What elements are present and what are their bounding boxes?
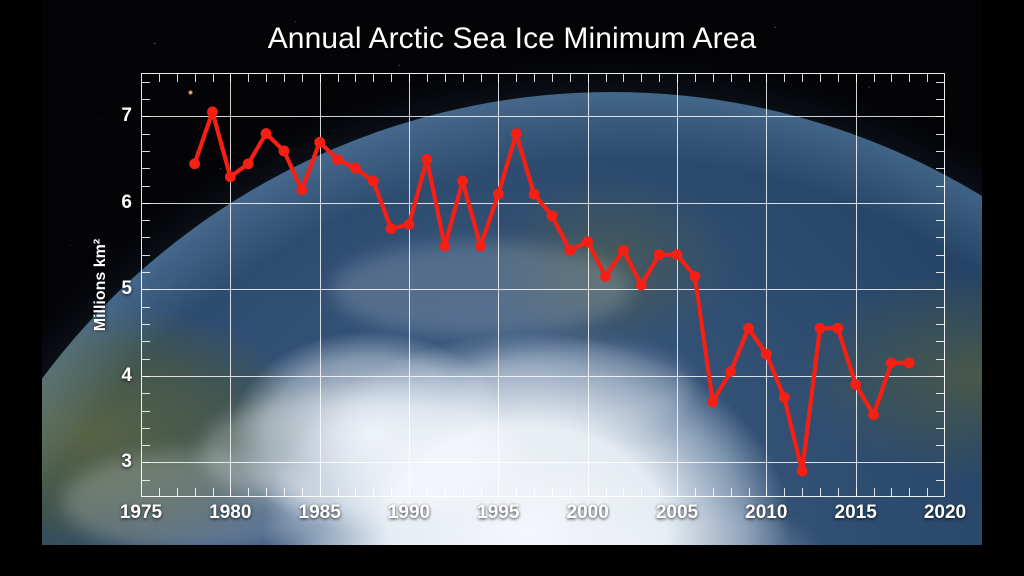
- sea-ice-area-series: [141, 73, 945, 497]
- data-point: [582, 236, 593, 247]
- data-point: [225, 171, 236, 182]
- data-point: [243, 158, 254, 169]
- data-point: [886, 357, 897, 368]
- data-point: [475, 241, 486, 252]
- data-point: [779, 392, 790, 403]
- data-point: [850, 379, 861, 390]
- x-axis-tick-label: 2015: [835, 502, 877, 524]
- x-axis-tick-label: 1995: [477, 502, 519, 524]
- page-title: Annual Arctic Sea Ice Minimum Area: [0, 22, 1024, 56]
- data-point: [797, 466, 808, 477]
- data-point: [368, 176, 379, 187]
- data-point: [439, 241, 450, 252]
- x-axis-tick-label: 1980: [209, 502, 251, 524]
- y-axis-tick-label: 3: [121, 451, 132, 473]
- data-point: [636, 280, 647, 291]
- data-point: [421, 154, 432, 165]
- data-point: [904, 357, 915, 368]
- data-point: [189, 158, 200, 169]
- data-point: [386, 223, 397, 234]
- data-point: [207, 107, 218, 118]
- data-point: [761, 349, 772, 360]
- x-axis-tick-label: 2010: [745, 502, 787, 524]
- data-point: [314, 137, 325, 148]
- y-axis-tick-label: 5: [121, 278, 132, 300]
- data-point: [332, 154, 343, 165]
- chart-screenshot: Annual Arctic Sea Ice Minimum Area 34567…: [0, 0, 1024, 576]
- data-point: [547, 210, 558, 221]
- data-point: [654, 249, 665, 260]
- x-axis-tick-label: 1985: [299, 502, 341, 524]
- data-point: [493, 189, 504, 200]
- x-axis-tick-label: 2000: [567, 502, 609, 524]
- x-axis-tick-label: 1990: [388, 502, 430, 524]
- data-point: [689, 271, 700, 282]
- y-axis-tick-label: 6: [121, 192, 132, 214]
- series-markers: [189, 107, 914, 477]
- data-point: [707, 396, 718, 407]
- y-axis-tick-label: 4: [121, 365, 132, 387]
- data-point: [725, 366, 736, 377]
- data-point: [672, 249, 683, 260]
- y-axis-tick-label: 7: [121, 105, 132, 127]
- y-axis-title: Millions km²: [92, 239, 110, 331]
- data-point: [457, 176, 468, 187]
- data-point: [743, 323, 754, 334]
- data-point: [261, 128, 272, 139]
- data-point: [279, 145, 290, 156]
- series-line: [195, 112, 910, 471]
- data-point: [832, 323, 843, 334]
- data-point: [868, 409, 879, 420]
- data-point: [815, 323, 826, 334]
- data-point: [600, 271, 611, 282]
- x-axis-tick-label: 2020: [924, 502, 966, 524]
- chart-plot-area: 3456719751980198519901995200020052010201…: [141, 73, 945, 497]
- data-point: [529, 189, 540, 200]
- data-point: [564, 245, 575, 256]
- data-point: [404, 219, 415, 230]
- data-point: [511, 128, 522, 139]
- x-axis-tick-label: 1975: [120, 502, 162, 524]
- data-point: [350, 163, 361, 174]
- data-point: [618, 245, 629, 256]
- data-point: [296, 184, 307, 195]
- x-axis-tick-label: 2005: [656, 502, 698, 524]
